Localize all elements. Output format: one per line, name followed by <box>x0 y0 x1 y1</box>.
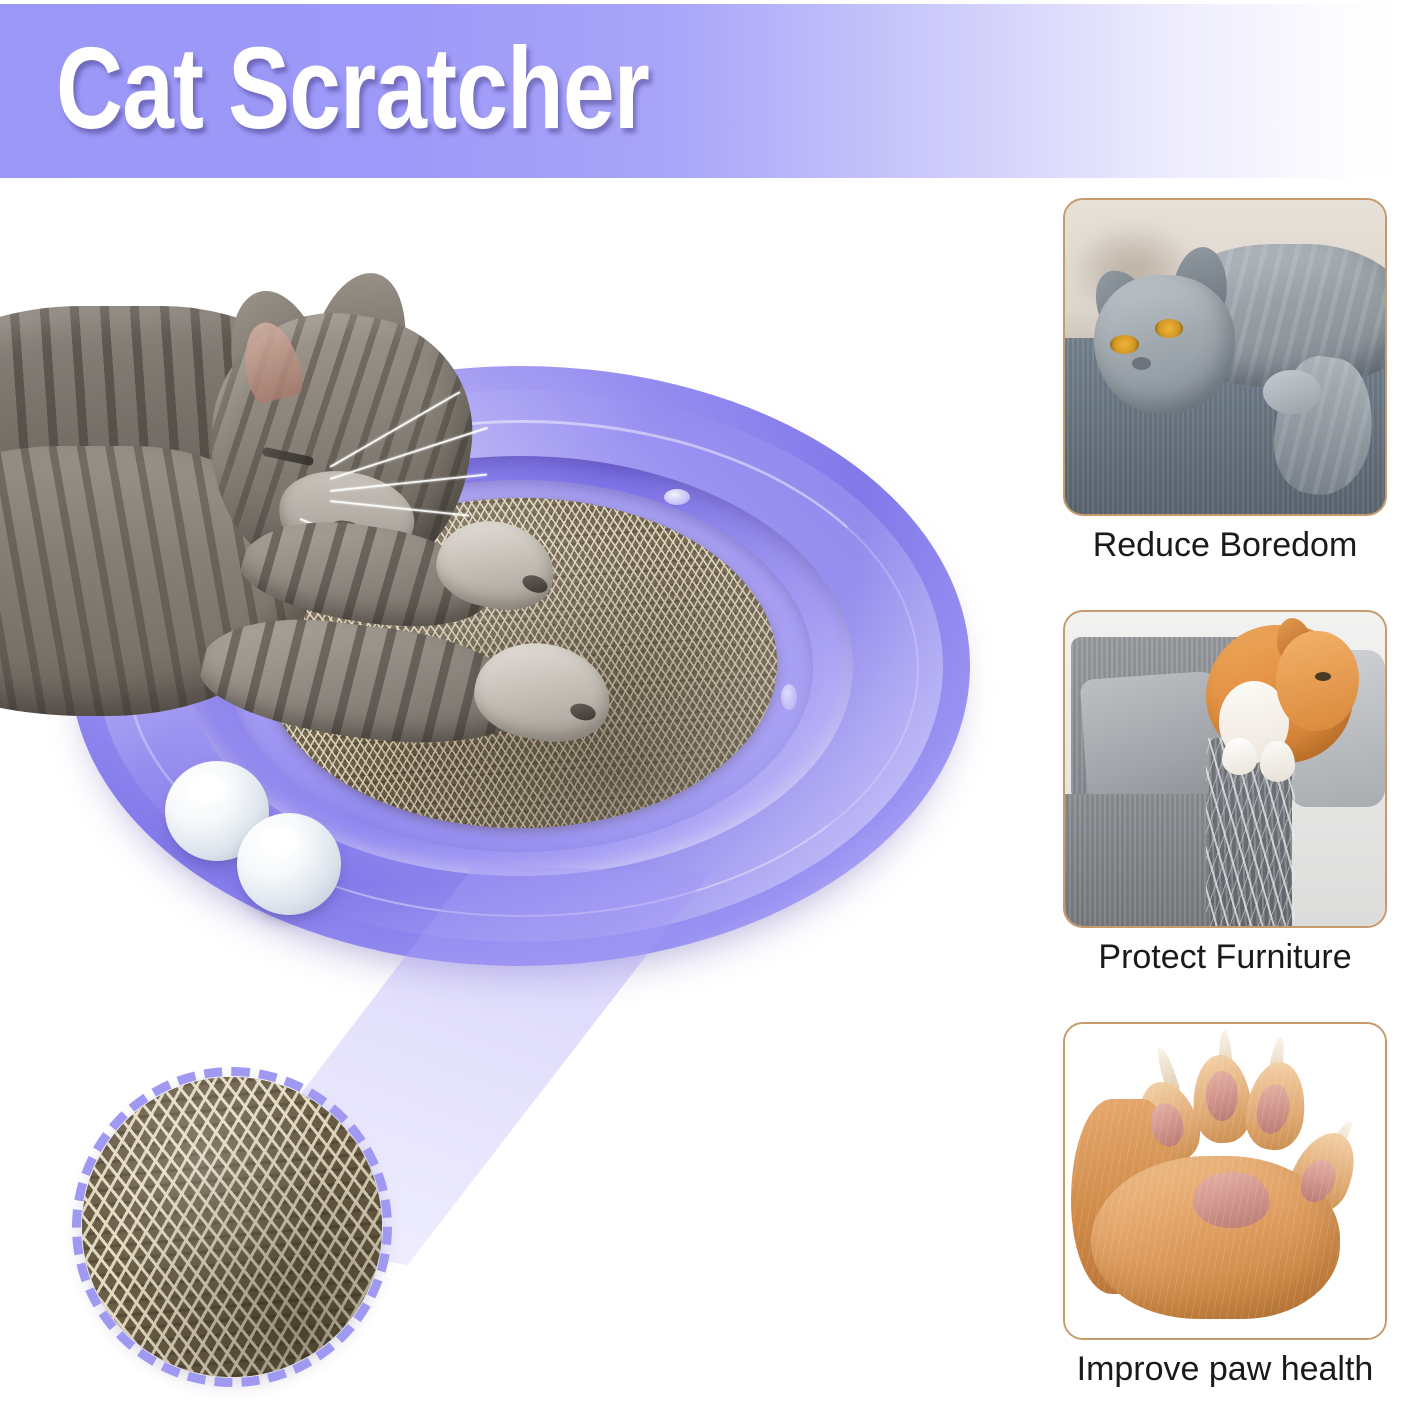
benefit-caption-3: Improve paw health <box>1063 1350 1387 1389</box>
tabby-cat <box>0 276 630 836</box>
benefit-card-improve-paw-health <box>1063 1022 1387 1340</box>
card2-cat-eye <box>1315 672 1331 681</box>
benefit-caption-2: Protect Furniture <box>1063 938 1387 977</box>
card1-cat-eye-left <box>1110 335 1139 354</box>
benefit-card-protect-furniture <box>1063 610 1387 928</box>
title-banner: Cat Scratcher <box>0 4 1403 178</box>
detail-dashed-ring <box>72 1067 392 1387</box>
rim-nub-secondary-icon <box>781 684 797 710</box>
benefit-caption-1: Reduce Boredom <box>1063 526 1387 565</box>
card3-fur-texture <box>1065 1024 1385 1338</box>
benefit-cards: Reduce Boredom Protect Furniture <box>1063 198 1387 1378</box>
card1-cat-nose <box>1132 357 1151 370</box>
product-infographic: Cat Scratcher <box>0 0 1403 1421</box>
rim-nub-icon <box>664 489 690 505</box>
card2-cat-paw-left <box>1222 738 1257 776</box>
benefit-card-reduce-boredom <box>1063 198 1387 516</box>
card1-cat-paw <box>1263 370 1321 414</box>
page-title: Cat Scratcher <box>56 28 649 148</box>
